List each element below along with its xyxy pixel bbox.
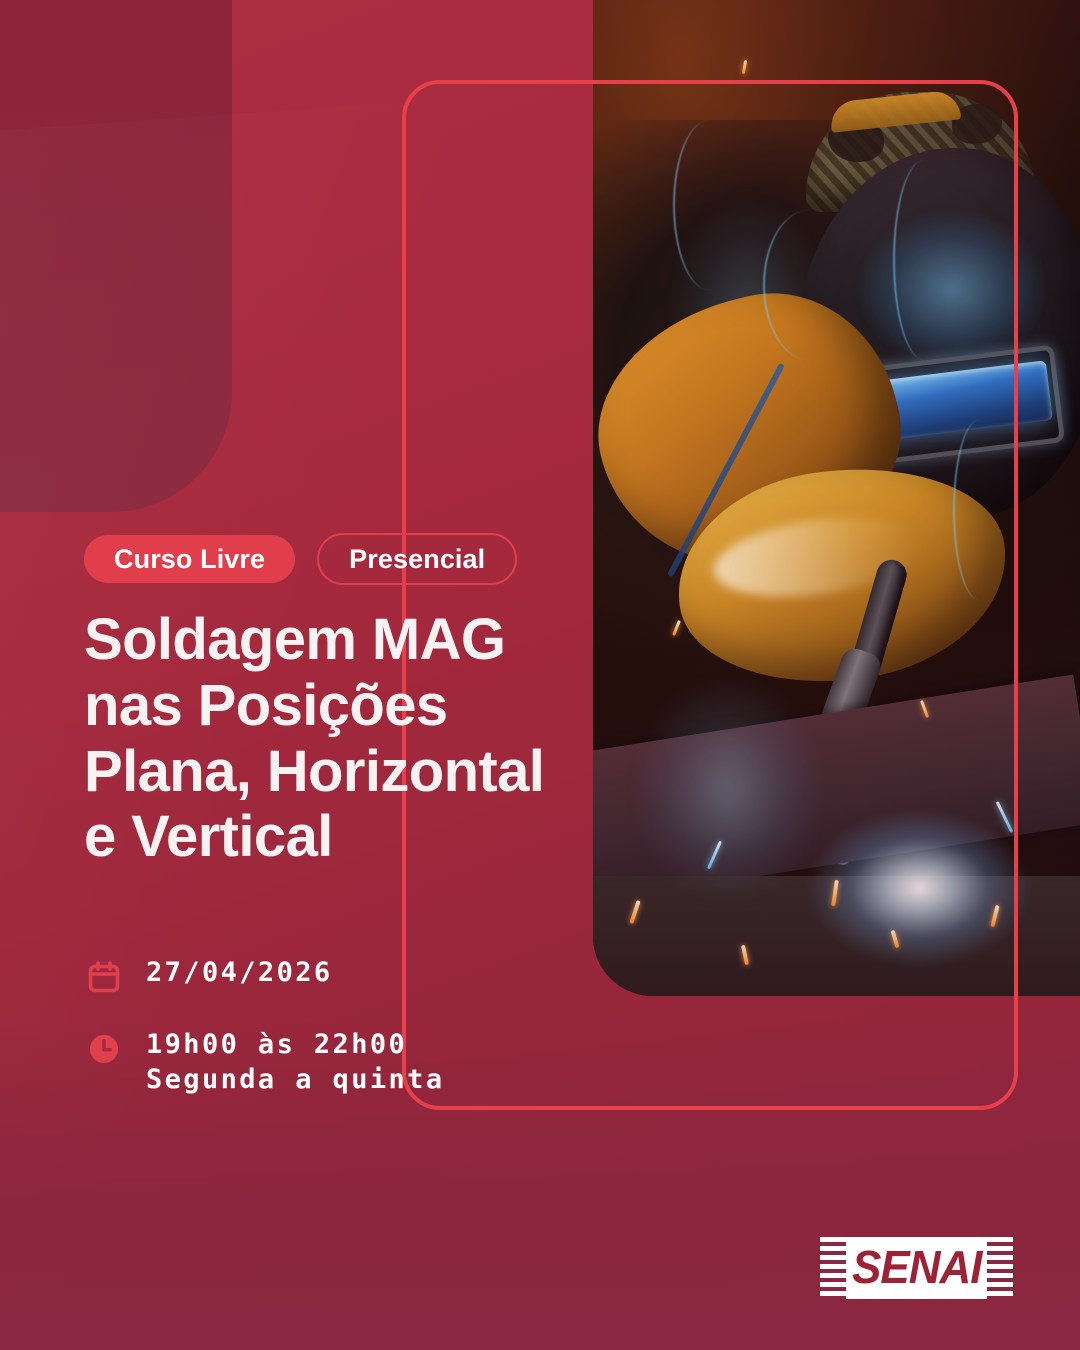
- detail-row-time: 19h00 às 22h00 Segunda a quinta: [84, 1027, 445, 1097]
- badge-curso-livre[interactable]: Curso Livre: [84, 535, 295, 583]
- senai-logo: SENAI: [820, 1237, 1013, 1299]
- badge-presencial[interactable]: Presencial: [317, 533, 517, 585]
- poster-content: Curso Livre Presencial Soldagem MAG nas …: [84, 0, 604, 1350]
- course-title: Soldagem MAG nas Posições Plana, Horizon…: [84, 607, 554, 870]
- course-poster: Curso Livre Presencial Soldagem MAG nas …: [0, 0, 1080, 1350]
- title-line-1: Soldagem MAG: [84, 607, 554, 673]
- course-details: 27/04/2026 19h00 às 22h00 Segunda a quin…: [84, 955, 445, 1127]
- detail-row-date: 27/04/2026: [84, 955, 445, 997]
- logo-plate: SENAI: [846, 1237, 987, 1299]
- calendar-icon: [84, 957, 124, 997]
- course-days: Segunda a quinta: [146, 1062, 445, 1097]
- course-schedule: 19h00 às 22h00 Segunda a quinta: [146, 1027, 445, 1097]
- title-line-3: Plana, Horizontal: [84, 739, 554, 805]
- logo-wordmark: SENAI: [852, 1242, 981, 1295]
- logo-stripes-left: [820, 1237, 846, 1299]
- logo-stripes-right: [987, 1237, 1013, 1299]
- title-line-2: nas Posições: [84, 673, 554, 739]
- badge-group: Curso Livre Presencial: [84, 533, 517, 585]
- course-time: 19h00 às 22h00: [146, 1029, 407, 1060]
- course-date: 27/04/2026: [146, 955, 333, 990]
- title-line-4: e Vertical: [84, 804, 554, 870]
- clock-icon: [84, 1029, 124, 1069]
